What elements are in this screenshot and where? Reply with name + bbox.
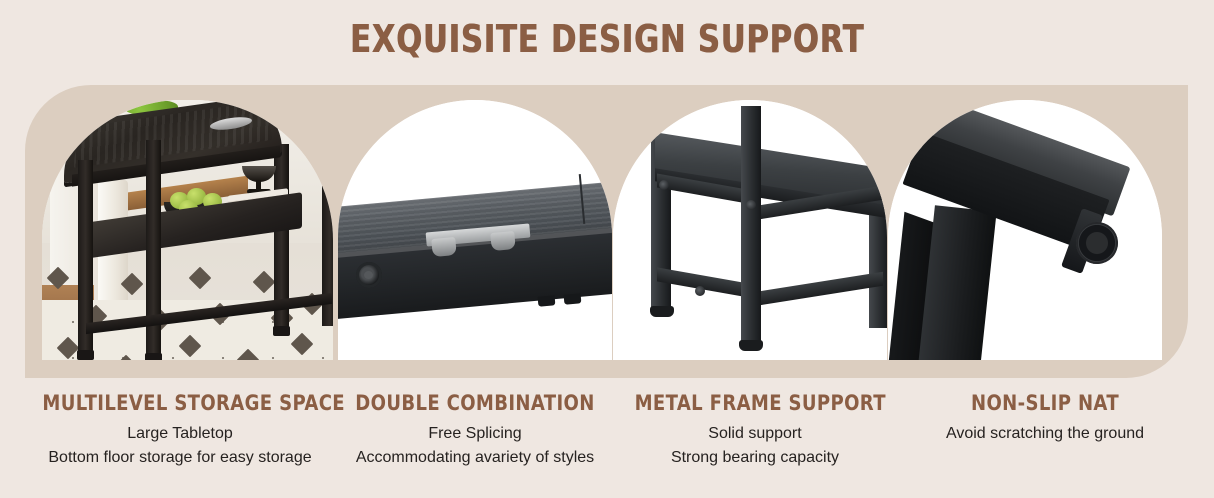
bracket-screw	[431, 237, 456, 257]
photo-non-slip-foot	[888, 100, 1162, 360]
bracket-screw	[490, 231, 515, 251]
feature-caption-4: NON-SLIP NAT Avoid scratching the ground	[890, 390, 1200, 446]
table-foot	[273, 326, 290, 336]
feature-heading-3: METAL FRAME SUPPORT	[635, 390, 876, 416]
apron-tab	[564, 293, 582, 304]
feature-line-1-2: Bottom floor storage for easy storage	[20, 446, 340, 470]
feature-photo-2	[338, 100, 612, 360]
feature-caption-2: DOUBLE COMBINATION Free Splicing Accommo…	[330, 390, 620, 470]
feature-photo-1	[42, 100, 333, 360]
apron-tab	[538, 295, 556, 306]
table-foot	[77, 350, 94, 360]
frame-foot	[739, 340, 763, 351]
feature-line-4-1: Avoid scratching the ground	[890, 422, 1200, 446]
feature-caption-3: METAL FRAME SUPPORT Solid support Strong…	[615, 390, 895, 470]
feature-heading-4: NON-SLIP NAT	[912, 390, 1179, 416]
feature-heading-2: DOUBLE COMBINATION	[350, 390, 599, 416]
infographic-page: EXQUISITE DESIGN SUPPORT	[0, 0, 1214, 498]
feature-photo-4	[888, 100, 1162, 360]
feature-line-2-2: Accommodating avariety of styles	[330, 446, 620, 470]
feature-photo-3	[613, 100, 887, 360]
feature-photo-row	[0, 0, 1214, 380]
feature-line-3-2: Strong bearing capacity	[615, 446, 895, 470]
feature-line-1-1: Large Tabletop	[20, 422, 340, 446]
frame-screw	[695, 286, 705, 296]
frame-post-front	[741, 106, 761, 346]
feature-line-2-1: Free Splicing	[330, 422, 620, 446]
photo-console-table-in-room	[42, 100, 333, 360]
frame-foot	[650, 306, 674, 317]
feature-line-3-1: Solid support	[615, 422, 895, 446]
photo-metal-frame	[613, 100, 887, 360]
feature-captions: MULTILEVEL STORAGE SPACE Large Tabletop …	[0, 390, 1214, 498]
frame-screw	[659, 180, 669, 190]
frame-screw	[746, 200, 756, 210]
feature-caption-1: MULTILEVEL STORAGE SPACE Large Tabletop …	[20, 390, 340, 470]
table-foot	[145, 353, 162, 360]
feature-heading-1: MULTILEVEL STORAGE SPACE	[42, 390, 317, 416]
table-leg-rear-right	[322, 186, 333, 326]
photo-tabletop-connector	[338, 100, 612, 360]
